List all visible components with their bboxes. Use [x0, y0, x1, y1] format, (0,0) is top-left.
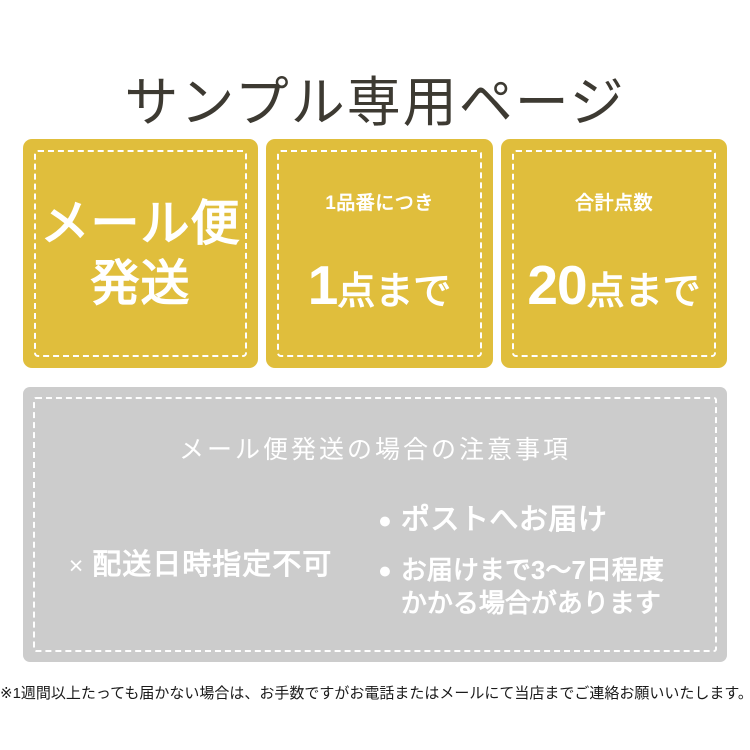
notice-bullet-list: ● ポストへお届け ● お届けまで3〜7日程度 かかる場合があります — [378, 500, 723, 620]
notice-bullet-item: ● ポストへお届け — [378, 504, 723, 537]
card-total-limit-content: 合計点数 20点まで — [501, 192, 727, 315]
card-per-item-limit-content: 1品番につき 1点まで — [266, 192, 493, 315]
card-shipping-method-headline: メール便 発送 — [23, 194, 258, 314]
card-shipping-method-line1: メール便 — [40, 197, 240, 251]
footer-note: ※1週間以上たっても届かない場合は、お手数ですがお電話またはメールにて当店までご… — [0, 683, 750, 705]
notice-panel-title: メール便発送の場合の注意事項 — [0, 434, 750, 466]
notice-restriction-label: 配送日時指定不可 — [92, 549, 332, 581]
notice-bullet-text: ポストへお届け — [401, 504, 608, 537]
cross-mark-icon: × — [69, 552, 85, 580]
notice-restriction: ×配送日時指定不可 — [23, 500, 378, 630]
sample-shipping-banner: サンプル専用ページ メール便 発送 1品番につき 1点まで — [0, 0, 750, 750]
card-total-limit-number: 20 — [527, 254, 586, 316]
card-shipping-method-content: メール便 発送 — [23, 194, 258, 314]
card-total-limit-suffix: 点まで — [587, 271, 701, 313]
card-total-limit-caption: 合計点数 — [501, 192, 727, 216]
card-per-item-limit-suffix: 点まで — [337, 271, 451, 313]
bullet-dot-icon: ● — [378, 554, 392, 587]
bullet-dot-icon: ● — [378, 504, 392, 537]
card-total-limit-value: 20点まで — [501, 262, 727, 315]
notice-bullet-text: お届けまで3〜7日程度 かかる場合があります — [401, 554, 664, 620]
card-shipping-method: メール便 発送 — [23, 139, 258, 368]
card-per-item-limit: 1品番につき 1点まで — [266, 139, 493, 368]
notice-bullet-text-line2: かかる場合があります — [401, 587, 664, 620]
card-per-item-limit-caption: 1品番につき — [266, 192, 493, 216]
notice-restriction-text: ×配送日時指定不可 — [69, 547, 333, 584]
card-shipping-method-line2: 発送 — [23, 254, 258, 314]
notice-bullet-item: ● お届けまで3〜7日程度 かかる場合があります — [378, 554, 723, 620]
notice-bullet-text-line1: お届けまで3〜7日程度 — [401, 554, 664, 587]
card-total-limit: 合計点数 20点まで — [501, 139, 727, 368]
page-title: サンプル専用ページ — [0, 70, 750, 136]
notice-panel-body: ×配送日時指定不可 ● ポストへお届け ● お届けまで3〜7日程度 かかる場合が… — [23, 500, 727, 650]
info-card-row: メール便 発送 1品番につき 1点まで 合計点数 20点まで — [23, 139, 727, 368]
card-per-item-limit-value: 1点まで — [266, 262, 493, 315]
card-per-item-limit-number: 1 — [308, 254, 338, 316]
